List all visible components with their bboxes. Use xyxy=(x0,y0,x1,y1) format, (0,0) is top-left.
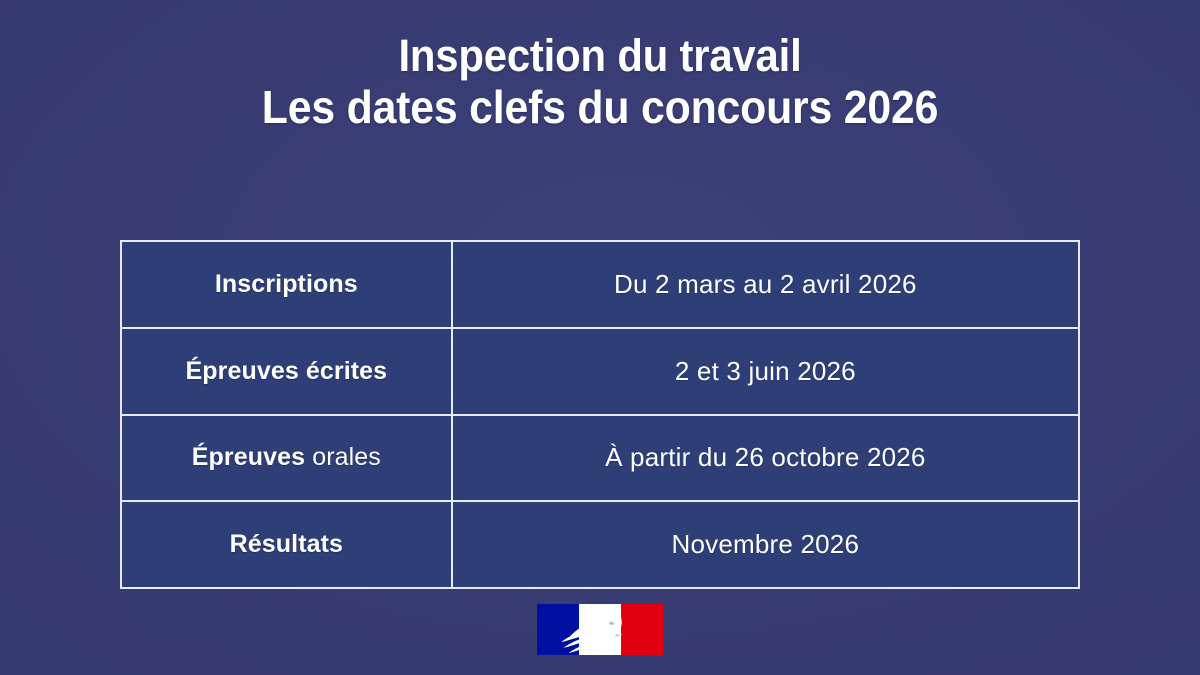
row-value-epreuves-orales: À partir du 26 octobre 2026 xyxy=(605,442,926,472)
table-cell-label: Résultats xyxy=(121,501,452,588)
row-value-resultats: Novembre 2026 xyxy=(672,529,860,559)
key-dates-table: Inscriptions Du 2 mars au 2 avril 2026 É… xyxy=(120,240,1080,589)
row-label-bold-part: Résultats xyxy=(230,530,343,558)
table-cell-label: Épreuves orales xyxy=(121,415,452,502)
row-label-epreuves-orales: Épreuves orales xyxy=(192,443,381,471)
table-cell-value: À partir du 26 octobre 2026 xyxy=(452,415,1079,502)
key-dates-table-body: Inscriptions Du 2 mars au 2 avril 2026 É… xyxy=(121,241,1079,588)
table-row: Épreuves orales À partir du 26 octobre 2… xyxy=(121,415,1079,502)
table-cell-label: Épreuves écrites xyxy=(121,328,452,415)
row-label-epreuves-ecrites: Épreuves écrites xyxy=(185,357,387,385)
table-row: Inscriptions Du 2 mars au 2 avril 2026 xyxy=(121,241,1079,328)
table-cell-value: Du 2 mars au 2 avril 2026 xyxy=(452,241,1079,328)
french-republic-marianne-flag-icon xyxy=(537,604,663,655)
table-cell-value: 2 et 3 juin 2026 xyxy=(452,328,1079,415)
page-title: Inspection du travail Les dates clefs du… xyxy=(0,30,1200,134)
table-cell-label: Inscriptions xyxy=(121,241,452,328)
row-label-regular-part: orales xyxy=(305,443,381,471)
row-value-inscriptions: Du 2 mars au 2 avril 2026 xyxy=(614,269,917,299)
title-line-2: Les dates clefs du concours 2026 xyxy=(42,81,1158,133)
row-label-bold-part: Inscriptions xyxy=(215,270,358,298)
table-row: Résultats Novembre 2026 xyxy=(121,501,1079,588)
row-value-epreuves-ecrites: 2 et 3 juin 2026 xyxy=(675,356,856,386)
slide-root: Inspection du travail Les dates clefs du… xyxy=(0,0,1200,675)
row-label-bold-part: Épreuves écrites xyxy=(185,357,387,385)
row-label-inscriptions: Inscriptions xyxy=(215,270,358,298)
table-cell-value: Novembre 2026 xyxy=(452,501,1079,588)
row-label-resultats: Résultats xyxy=(230,530,343,558)
title-line-1: Inspection du travail xyxy=(42,30,1158,81)
row-label-bold-part: Épreuves xyxy=(192,443,305,471)
table-row: Épreuves écrites 2 et 3 juin 2026 xyxy=(121,328,1079,415)
